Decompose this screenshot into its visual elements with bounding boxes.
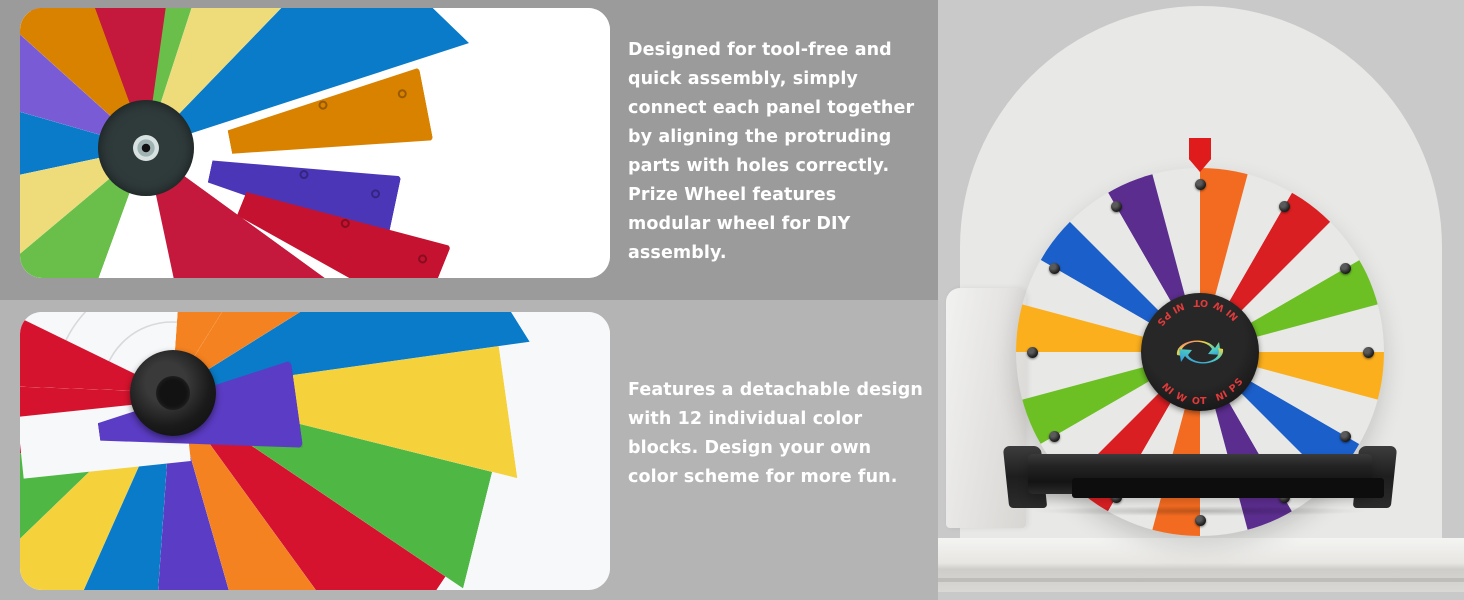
feature-text-detachable-design: Features a detachable design with 12 ind… xyxy=(628,376,924,492)
wheel-bolt xyxy=(1027,347,1038,358)
wheel-bolt xyxy=(1195,179,1206,190)
wheel-bolt xyxy=(1363,347,1374,358)
wheel-bolt xyxy=(1049,263,1060,274)
feature-text-tool-free-assembly: Designed for tool-free and quick assembl… xyxy=(628,36,924,268)
panel-connector-hole xyxy=(318,100,329,111)
panel-connector-hole xyxy=(417,253,429,265)
assembled-prize-wheel-photo: SPIN TO WIN SPIN TO WIN xyxy=(938,0,1464,600)
wheel-hub xyxy=(98,100,194,196)
recycle-arrows-icon xyxy=(1167,329,1233,375)
panel-connector-hole xyxy=(397,89,408,100)
stand-shadow xyxy=(1034,506,1366,516)
stand-bar xyxy=(1028,454,1372,494)
wheel-bolt xyxy=(1340,263,1351,274)
wheel-bolt xyxy=(1279,201,1290,212)
table-surface xyxy=(938,538,1464,592)
wheel-bolt xyxy=(1111,201,1122,212)
panel-connector-hole xyxy=(370,189,381,200)
panel-connector-hole xyxy=(299,169,310,180)
wheel-hub xyxy=(130,350,216,436)
twelve-color-blocks-photo xyxy=(20,312,610,590)
table-edge xyxy=(938,578,1464,582)
wheel-hub: SPIN TO WIN SPIN TO WIN xyxy=(1141,293,1259,411)
modular-wheel-disassembly-photo xyxy=(20,8,610,278)
wheel-stand xyxy=(1000,440,1400,518)
stand-bar-inner xyxy=(1072,478,1384,498)
